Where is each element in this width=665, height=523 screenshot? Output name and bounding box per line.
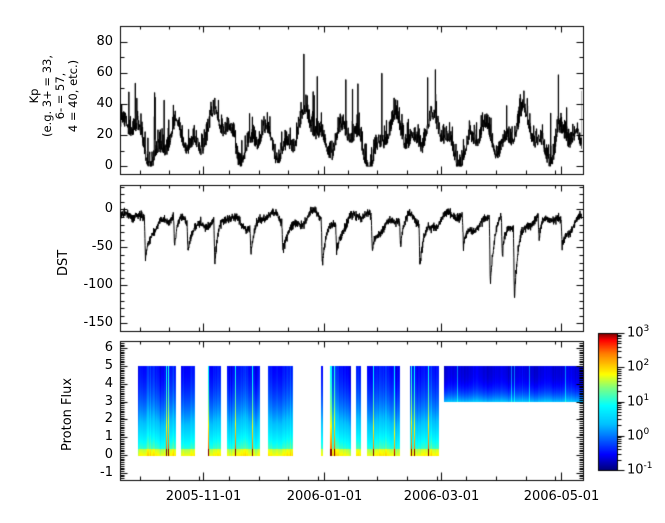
kp-axis-label-line-3: 4 = 40, etc.)	[67, 22, 80, 170]
y-tick-label: 6	[105, 340, 113, 355]
y-tick-label: 60	[96, 65, 113, 80]
colorbar-mantissa: 10	[627, 325, 644, 340]
y-tick-label: -100	[83, 277, 113, 292]
y-tick-label: -50	[92, 239, 113, 254]
y-tick-label: 20	[96, 127, 113, 142]
x-tick-label: 2006-05-01	[502, 489, 622, 504]
colorbar-exponent: -1	[644, 461, 653, 471]
x-tick-label: 2006-01-01	[265, 489, 385, 504]
x-tick-label: 2005-11-01	[144, 489, 264, 504]
proton-flux-axis-label: Proton Flux	[60, 377, 75, 450]
colorbar-tick-label: 100	[627, 427, 649, 443]
y-tick-label: 40	[96, 96, 113, 111]
kp-axis-label: Kp (e.g. 3+ = 33, 6- = 57, 4 = 40, etc.)	[28, 22, 80, 170]
colorbar-tick-label: 103	[627, 324, 649, 340]
y-tick-label: 0	[105, 447, 113, 462]
colorbar-tick-label: 101	[627, 393, 649, 409]
colorbar-tick-label: 10-1	[627, 461, 653, 477]
colorbar-mantissa: 10	[627, 428, 644, 443]
y-tick-label: -1	[100, 465, 113, 480]
colorbar-mantissa: 10	[627, 394, 644, 409]
y-tick-label: 5	[105, 358, 113, 373]
colorbar-exponent: 3	[644, 324, 650, 334]
y-tick-label: 0	[105, 201, 113, 216]
y-tick-label: -150	[83, 315, 113, 330]
y-tick-label: 1	[105, 429, 113, 444]
dst-axis-label: DST	[56, 250, 71, 276]
y-tick-label: 3	[105, 394, 113, 409]
y-tick-label: 80	[96, 34, 113, 49]
colorbar-mantissa: 10	[627, 359, 644, 374]
colorbar-mantissa: 10	[627, 462, 644, 477]
colorbar-exponent: 0	[644, 427, 650, 437]
y-tick-label: 0	[105, 158, 113, 173]
colorbar-exponent: 2	[644, 358, 650, 368]
y-tick-label: 4	[105, 376, 113, 391]
colorbar-tick-label: 102	[627, 358, 649, 374]
y-tick-label: 2	[105, 411, 113, 426]
x-tick-label: 2006-03-01	[382, 489, 502, 504]
figure-root: Kp (e.g. 3+ = 33, 6- = 57, 4 = 40, etc.)…	[0, 0, 665, 523]
colorbar-exponent: 1	[644, 393, 650, 403]
